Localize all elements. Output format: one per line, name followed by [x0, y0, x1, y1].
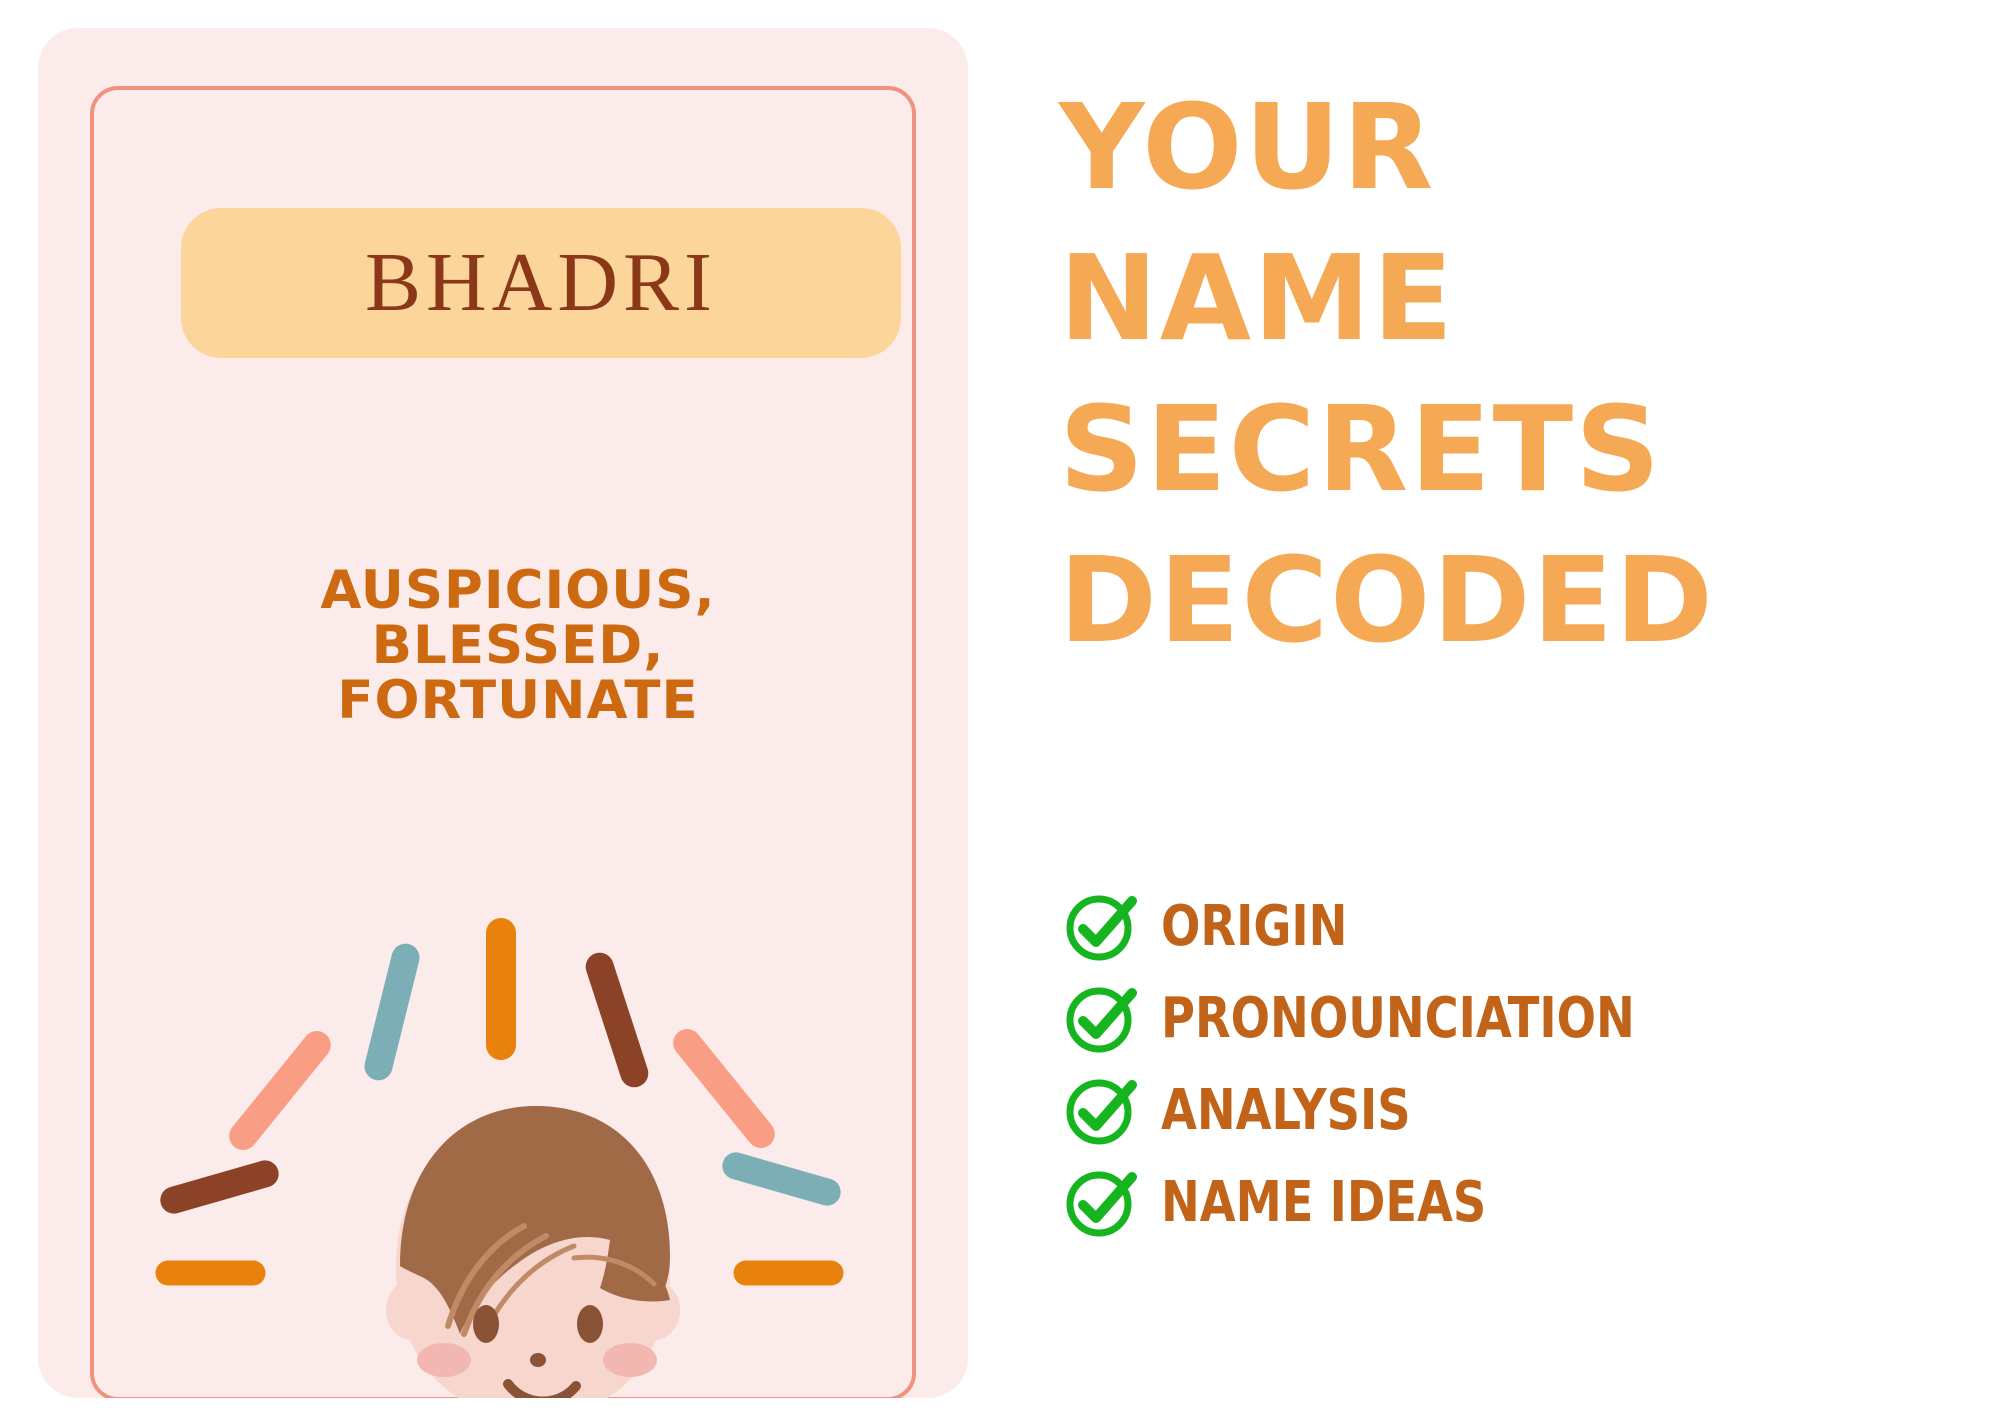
name-pill: BHADRI [181, 208, 901, 358]
ray-teal-right [719, 1149, 844, 1209]
ray-salmon-left [223, 1025, 336, 1155]
right-column: YOUR NAME SECRETS DECODED ORIGIN PRONOUN… [1045, 0, 1985, 1414]
ray-brown-left [157, 1157, 282, 1217]
ray-brown-right [582, 949, 652, 1091]
check-circle-icon [1063, 888, 1139, 964]
headline: YOUR NAME SECRETS DECODED [1059, 72, 1979, 676]
checklist-label: PRONOUNCIATION [1161, 986, 1635, 1051]
name-card: BHADRI AUSPICIOUS, BLESSED, FORTUNATE [38, 28, 968, 1398]
ray-orange-center [486, 918, 516, 1060]
check-circle-icon [1063, 980, 1139, 1056]
ray-orange-right [734, 1261, 844, 1286]
checklist-label: ANALYSIS [1161, 1078, 1411, 1143]
name-text: BHADRI [365, 241, 717, 325]
headline-line-4: DECODED [1059, 525, 1979, 676]
name-meaning: AUSPICIOUS, BLESSED, FORTUNATE [148, 563, 888, 728]
check-circle-icon [1063, 1072, 1139, 1148]
checklist-label: ORIGIN [1161, 894, 1347, 959]
headline-line-2: NAME [1059, 223, 1979, 374]
meaning-line-1: AUSPICIOUS, [148, 563, 888, 618]
child-face [378, 1088, 688, 1398]
list-item: PRONOUNCIATION [1063, 972, 1983, 1064]
check-circle-icon [1063, 1164, 1139, 1240]
headline-line-3: SECRETS [1059, 374, 1979, 525]
feature-checklist: ORIGIN PRONOUNCIATION ANALYSIS [1063, 880, 1983, 1248]
list-item: ORIGIN [1063, 880, 1983, 972]
checklist-label: NAME IDEAS [1161, 1170, 1486, 1235]
meaning-line-2: BLESSED, [148, 618, 888, 673]
ray-orange-left [156, 1261, 266, 1286]
headline-line-1: YOUR [1059, 72, 1979, 223]
meaning-line-3: FORTUNATE [148, 673, 888, 728]
child-illustration [148, 918, 908, 1398]
list-item: ANALYSIS [1063, 1064, 1983, 1156]
ray-teal-left [361, 941, 422, 1084]
list-item: NAME IDEAS [1063, 1156, 1983, 1248]
